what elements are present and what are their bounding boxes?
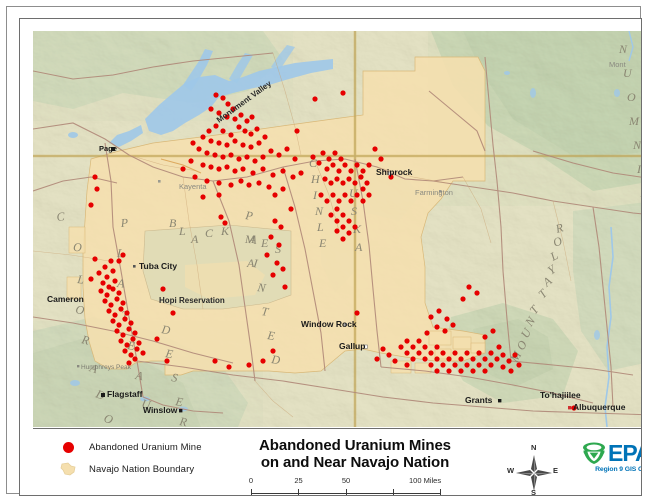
svg-text:M: M xyxy=(244,232,256,246)
outer-frame: C O L O R A D O P xyxy=(6,6,641,494)
legend: Abandoned Uranium Mine Navajo Nation Bou… xyxy=(55,442,255,486)
inner-frame: C O L O R A D O P xyxy=(19,18,642,496)
area-label-hopi-reservation: Hopi Reservation xyxy=(159,296,225,305)
svg-text:P: P xyxy=(119,215,129,230)
city-label-flagstaff: Flagstaff xyxy=(107,389,143,399)
svg-text:S: S xyxy=(351,204,357,218)
svg-text:M: M xyxy=(628,114,640,128)
svg-text:L: L xyxy=(178,224,186,238)
svg-text:O: O xyxy=(73,240,82,254)
svg-text:N: N xyxy=(618,42,628,56)
svg-text:E: E xyxy=(318,236,327,250)
svg-text:A: A xyxy=(640,186,642,200)
svg-text:A: A xyxy=(246,256,255,270)
compass-north-label: N xyxy=(531,443,536,452)
svg-text:I: I xyxy=(636,162,642,176)
svg-text:A: A xyxy=(116,276,126,291)
svg-text:O: O xyxy=(627,90,636,104)
red-circle-icon xyxy=(55,442,81,453)
map-title-line2: on and Near Navajo Nation xyxy=(239,454,471,471)
map-title-line1: Abandoned Uranium Mines xyxy=(239,437,471,454)
city-label-tuba-city: Tuba City xyxy=(139,261,177,271)
city-label-mont: Mont xyxy=(609,60,627,69)
epa-seal-icon xyxy=(581,441,607,465)
epa-wordmark: EPA xyxy=(608,442,642,465)
svg-text:A: A xyxy=(354,240,363,254)
scale-tick-label-25: 25 xyxy=(294,476,302,485)
city-label-cameron: Cameron xyxy=(47,294,84,304)
compass-rose: N S E W xyxy=(503,443,565,496)
city-label-shiprock: Shiprock xyxy=(376,167,413,177)
scale-tick-label-50: 50 xyxy=(342,476,350,485)
legend-item-mine: Abandoned Uranium Mine xyxy=(55,442,255,453)
svg-text:N: N xyxy=(632,138,642,152)
map-canvas[interactable]: C O L O R A D O P xyxy=(33,31,642,427)
epa-subtitle: Region 9 GIS Center xyxy=(581,466,642,473)
svg-text:H: H xyxy=(310,172,321,186)
scale-tick-label-100: 100 Miles xyxy=(409,476,441,485)
city-label-window-rock: Window Rock xyxy=(301,319,357,329)
compass-needle-icon xyxy=(516,455,552,491)
svg-text:A: A xyxy=(190,232,199,246)
scale-bar: 0 25 50 100 Miles xyxy=(251,476,463,496)
tan-polygon-icon xyxy=(55,462,81,477)
svg-text:K: K xyxy=(220,224,230,238)
city-label-winslow: Winslow xyxy=(143,405,178,415)
svg-text:E: E xyxy=(260,236,269,250)
city-label-farmington: Farmington xyxy=(415,188,453,197)
city-label-grants: Grants xyxy=(465,395,493,405)
city-label-tohajiilee: To'hajiilee xyxy=(540,390,581,400)
compass-south-label: S xyxy=(531,488,536,496)
map-legend-panel: Abandoned Uranium Mine Navajo Nation Bou… xyxy=(33,428,642,496)
map-title: Abandoned Uranium Mines on and Near Nava… xyxy=(239,437,471,471)
compass-east-label: E xyxy=(553,466,558,475)
legend-item-boundary: Navajo Nation Boundary xyxy=(55,462,255,477)
city-label-kayenta: Kayenta xyxy=(179,182,207,191)
city-label-gallup: Gallup xyxy=(339,341,365,351)
scale-tick-label-0: 0 xyxy=(249,476,253,485)
svg-text:N: N xyxy=(314,204,324,218)
epa-logo-block: EPA Region 9 GIS Center xyxy=(581,441,642,473)
map-page: C O L O R A D O P xyxy=(0,0,647,500)
city-label-albuquerque: Albuquerque xyxy=(573,402,626,412)
svg-text:C: C xyxy=(205,226,214,240)
legend-label-mine: Abandoned Uranium Mine xyxy=(89,442,202,453)
legend-label-boundary: Navajo Nation Boundary xyxy=(89,464,194,475)
city-label-page: Page xyxy=(99,144,117,153)
compass-west-label: W xyxy=(507,466,514,475)
svg-text:B: B xyxy=(169,216,177,230)
svg-text:L: L xyxy=(316,220,324,234)
peak-label-humphreys: Humphreys Peak xyxy=(81,364,132,371)
